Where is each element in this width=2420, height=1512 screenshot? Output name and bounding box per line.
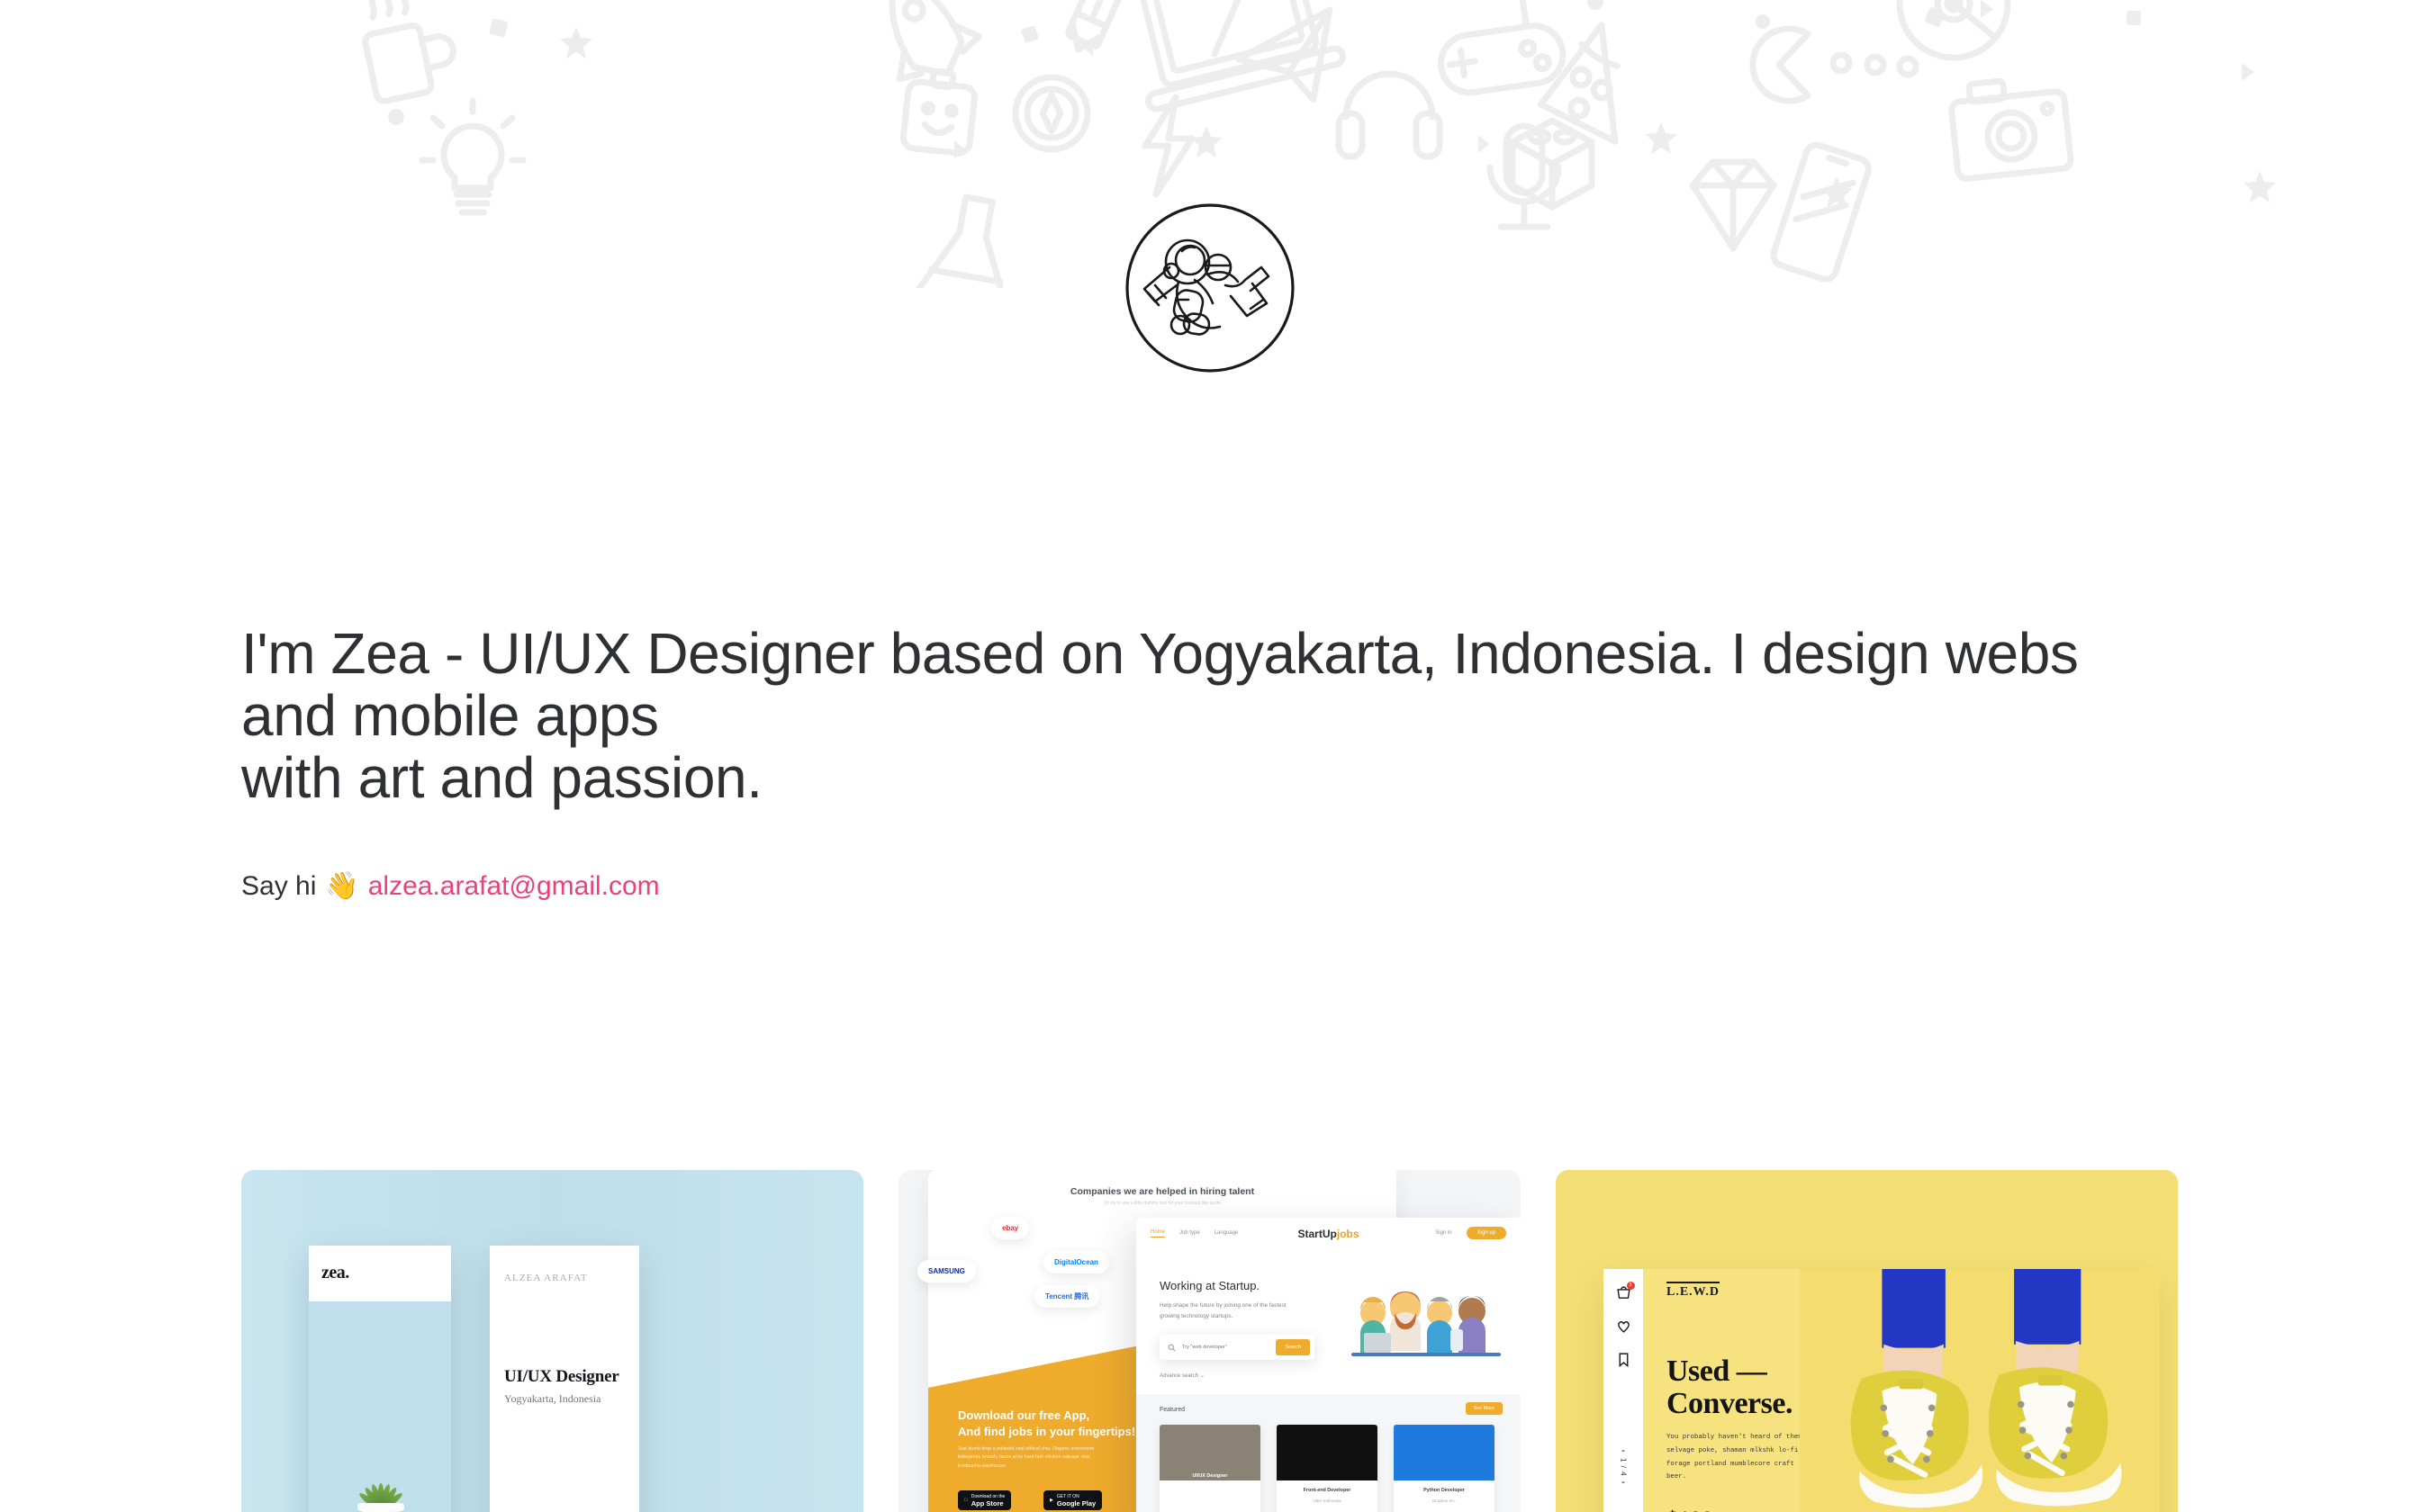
apple-icon:  [964,1498,968,1503]
companies-heading: Companies we are helped in hiring talent [928,1186,1396,1197]
lego-head-icon [902,68,977,154]
job-company: Dropbox Inc. [1394,1498,1494,1503]
job-title: Front-end Developer [1277,1488,1377,1493]
nav-item-job-type[interactable]: Job type [1179,1230,1200,1236]
product-description: You probably haven't heard of them selva… [1666,1431,1803,1484]
carousel-pager[interactable]: ⌃ 1 / 4 ⌄ [1603,1449,1643,1486]
waving-hand-icon: 👋 [325,873,358,900]
gamepad-icon [1431,0,1577,96]
cart-count-badge: 3 [1627,1282,1635,1290]
pager-down-icon[interactable]: ⌄ [1620,1477,1628,1486]
app-promo-panel: Download our free App, And find jobs in … [928,1343,1153,1512]
astronaut-badge-logo[interactable] [1124,202,1296,373]
square-icon [489,6,2141,43]
shop-brand-logo: L.E.W.D [1666,1282,1720,1300]
pager-up-icon[interactable]: ⌃ [1620,1449,1628,1458]
pencil-icon [1063,0,1137,56]
contact-line: Say hi 👋 alzea.arafat@gmail.com [241,868,2132,904]
diamond-icon [1693,162,1774,248]
laptop-icon [1120,0,1345,111]
shop-product-page: 3 ⌃ 1 / 4 ⌄ [1603,1269,2160,1512]
startupjobs-site-mockup: Home Job type Language Sign in Sign up S… [1136,1218,1521,1512]
product-price: $199.00 [1666,1507,1726,1512]
heart-icon[interactable] [1616,1318,1631,1334]
smartphone-icon [1771,142,1872,282]
coffee-mug-icon [357,0,461,103]
team-illustration [1346,1282,1506,1369]
hero-section: I'm Zea - UI/UX Designer based on Yogyak… [241,623,2132,904]
project-card-branding[interactable]: zea. ALZEA ARAFAT UI/UX Des [241,1170,863,1512]
googleplay-badge[interactable]: ▶ GET IT ON Google Play [1043,1490,1102,1510]
job-title: Python Developer [1394,1488,1494,1493]
product-title: Used — Converse. [1666,1355,1792,1419]
advance-search-label: Advance search [1160,1373,1198,1379]
job-thumbnail [1277,1425,1377,1480]
companies-subheading: Or, try to use a little dummy text for y… [928,1201,1396,1206]
featured-jobs-section: Featured See More UI/UX Designer Full-ti… [1136,1394,1521,1512]
appstore-small-label: Download on the [971,1494,1006,1499]
company-logo-tencent: Tencent 腾讯 [1034,1285,1099,1308]
lightning-bolt-icon [1145,97,1192,194]
lightbulb-icon [422,101,523,212]
pager-label: 1 / 4 [1620,1458,1628,1477]
triangle-icon [954,0,2254,158]
site-hero-body: Help shape the future by joining one of … [1160,1300,1304,1322]
chevron-down-icon: ⌄ [1200,1373,1205,1379]
logo-end-text: jobs [1337,1228,1359,1240]
star-icon [560,27,2276,208]
featured-label: Featured [1160,1407,1185,1413]
business-card-location: Yogyakarta, Indonesia [504,1392,600,1406]
startupjobs-logo: StartUpjobs [1297,1228,1359,1240]
logo-start-text: StartUp [1297,1228,1336,1240]
search-icon [1168,1344,1176,1352]
brand-logo-text: zea. [321,1263,349,1283]
product-title-line1: Used — [1666,1355,1792,1388]
bookmark-icon[interactable] [1616,1352,1631,1367]
pacman-icon [1753,29,1808,101]
job-company: Uber Indonesia [1277,1498,1377,1503]
job-thumbnail [1394,1425,1494,1480]
rocket-icon [857,0,988,94]
appstore-badge[interactable]:  Download on the App Store [958,1490,1011,1510]
nav-item-home[interactable]: Home [1151,1229,1165,1237]
price-amount: $199 [1666,1507,1713,1512]
dot-icon [1833,55,1916,75]
play-triangle-icon: ▶ [1050,1498,1053,1503]
flask-icon [916,192,1024,288]
googleplay-small-label: GET IT ON [1057,1494,1079,1499]
plant-pot [362,1503,400,1512]
cart-icon[interactable]: 3 [1616,1285,1631,1300]
search-button[interactable]: Search [1276,1339,1310,1355]
nav-item-language[interactable]: Language [1215,1230,1239,1236]
nav-sign-in-link[interactable]: Sign in [1435,1230,1451,1236]
product-title-line2: Converse. [1666,1388,1792,1420]
paper-plane-icon [1233,10,1341,109]
site-hero-heading: Working at Startup. [1160,1279,1260,1292]
page-title: I'm Zea - UI/UX Designer based on Yogyak… [241,623,2132,809]
business-card-role: UI/UX Designer [504,1367,619,1387]
converse-shoes-photo [1800,1269,2160,1512]
job-title: UI/UX Designer [1160,1473,1260,1479]
camera-icon [1949,75,2072,180]
googleplay-big-label: Google Play [1057,1499,1096,1507]
project-card-startupjobs[interactable]: Companies we are helped in hiring talent… [898,1170,1521,1512]
business-card-back: ALZEA ARAFAT UI/UX Designer Yogyakarta, … [490,1246,639,1512]
email-link[interactable]: alzea.arafat@gmail.com [368,868,660,904]
job-card[interactable]: UI/UX Designer Full-time | Portland, OR [1160,1425,1260,1512]
company-logo-digitalocean: DigitalOcean [1043,1251,1109,1273]
job-card[interactable]: Python Developer Dropbox Inc. Remote | N… [1394,1425,1494,1512]
brand-card-front: zea. [309,1246,451,1512]
see-more-button[interactable]: See More [1466,1402,1503,1415]
project-card-shop[interactable]: 3 ⌃ 1 / 4 ⌄ [1556,1170,2178,1512]
headphones-icon [1339,74,1440,157]
business-card-name: ALZEA ARAFAT [504,1273,588,1283]
job-card[interactable]: Front-end Developer Uber Indonesia Full-… [1277,1425,1377,1512]
job-search-bar[interactable]: Search [1160,1335,1314,1360]
company-logo-ebay: ebay [991,1217,1029,1239]
search-input[interactable] [1182,1345,1261,1350]
succulent-plant-icon [350,1472,410,1512]
portfolio-page: I'm Zea - UI/UX Designer based on Yogyak… [0,0,2420,1512]
cd-disc-icon [1900,0,2008,58]
microphone-icon [1490,126,1558,227]
contact-label: Say hi [241,868,316,904]
project-card-grid: zea. ALZEA ARAFAT UI/UX Des [241,1170,2179,1512]
compass-icon [1016,77,1088,149]
company-logo-samsung: SAMSUNG [917,1260,976,1282]
appstore-big-label: App Store [971,1499,1006,1507]
app-promo-body: Just dumb drop a polaroid viral ethical … [958,1445,1111,1471]
app-promo-heading: Download our free App, And find jobs in … [958,1408,1138,1439]
pizza-slice-icon [1537,15,1642,141]
nav-sign-up-button[interactable]: Sign up [1467,1227,1506,1239]
job-thumbnail [1160,1425,1260,1480]
dot-icon [388,0,2061,125]
shop-side-rail: 3 ⌃ 1 / 4 ⌄ [1603,1269,1643,1512]
advance-search-toggle[interactable]: Advance search ⌄ [1160,1372,1205,1379]
lego-brick-icon [1512,121,1592,207]
